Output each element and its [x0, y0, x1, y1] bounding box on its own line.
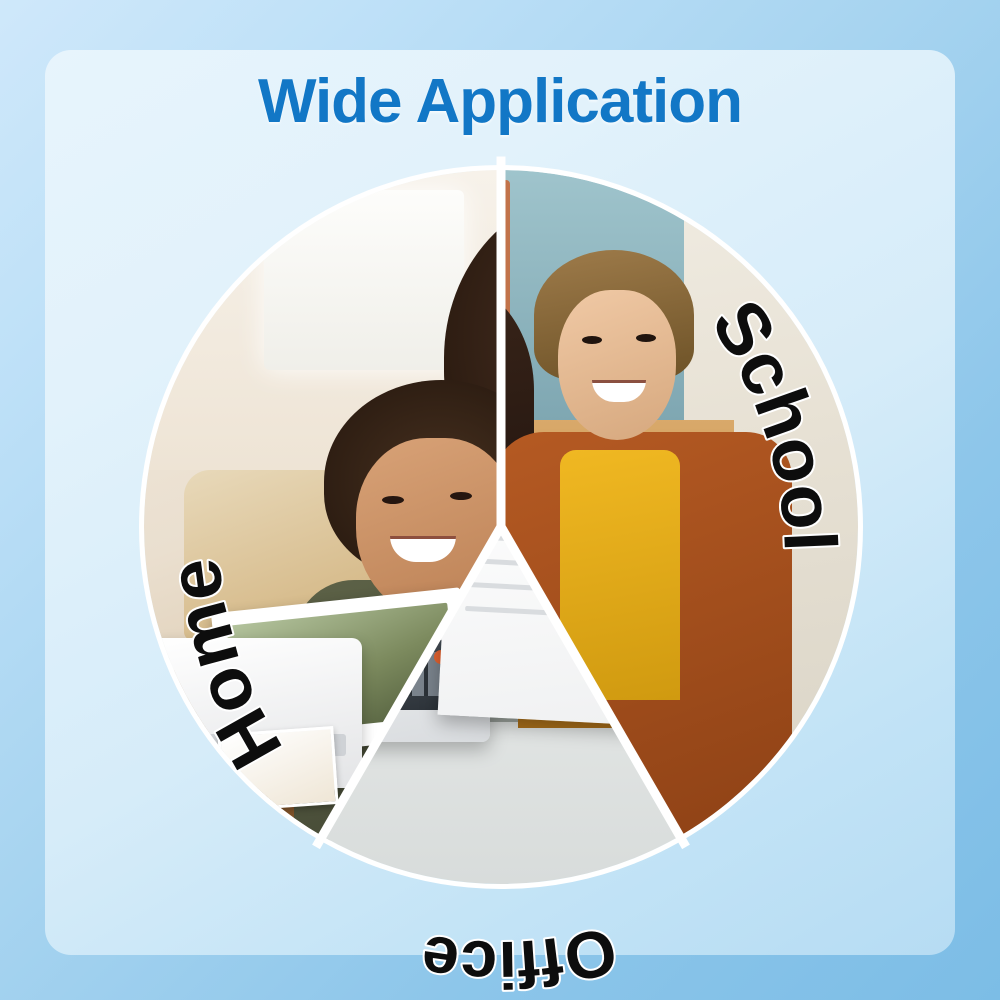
page-title: Wide Application	[0, 66, 1000, 137]
divider-top	[497, 157, 506, 527]
photo-circle	[144, 170, 858, 884]
infographic-stage: Wide Application	[0, 0, 1000, 1000]
